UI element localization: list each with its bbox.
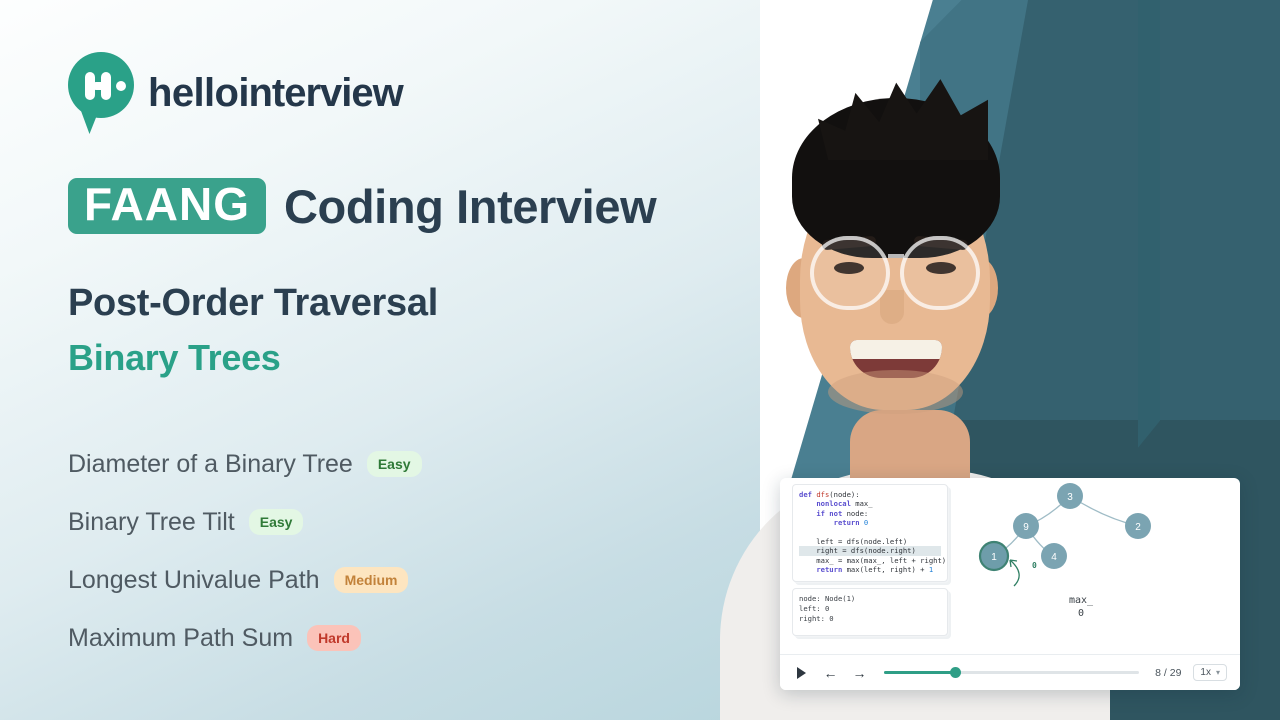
presenter-glasses-bridge	[888, 254, 904, 258]
problem-name: Longest Univalue Path	[68, 566, 320, 595]
binary-tree-diagram: 3 9 2 1 4 0	[952, 478, 1240, 654]
tree-node-label: 2	[1135, 522, 1141, 533]
list-item[interactable]: Maximum Path Sum Hard	[68, 609, 788, 667]
difficulty-badge: Medium	[334, 567, 409, 593]
progress-handle[interactable]	[950, 667, 961, 678]
faang-badge: FAANG	[68, 178, 266, 234]
topic-label: Binary Trees	[68, 337, 788, 379]
headline-text: Coding Interview	[284, 179, 656, 234]
presenter-chin-shadow	[828, 370, 963, 414]
variables-panel[interactable]: node: Node(1) left: 0 right: 0	[792, 588, 948, 636]
return-value-label: 0	[1032, 561, 1037, 570]
progress-fill	[884, 671, 955, 674]
accumulator-value: 0	[1036, 607, 1126, 620]
playback-speed-select[interactable]: 1x ▾	[1193, 664, 1227, 681]
difficulty-badge: Easy	[367, 451, 422, 477]
list-item[interactable]: Diameter of a Binary Tree Easy	[68, 435, 788, 493]
tree-node-label: 3	[1067, 492, 1073, 503]
tree-node-label: 1	[991, 552, 997, 563]
slide-canvas: hellointerview FAANG Coding Interview Po…	[0, 0, 1280, 720]
presenter-teeth	[850, 340, 942, 359]
code-block: def dfs(node): nonlocal max_ if not node…	[799, 490, 941, 575]
visualizer-body: def dfs(node): nonlocal max_ if not node…	[780, 478, 1240, 654]
tree-node-label: 9	[1023, 522, 1029, 533]
progress-slider[interactable]	[884, 671, 1139, 674]
step-forward-icon[interactable]: →	[851, 664, 868, 681]
chevron-down-icon: ▾	[1216, 668, 1220, 677]
hello-interview-speech-bubble-icon	[68, 52, 134, 134]
playback-controls: ← → 8 / 29 1x ▾	[780, 654, 1240, 690]
return-arrow	[1010, 560, 1019, 586]
accumulator-display: max_ 0	[1036, 594, 1126, 620]
algorithm-visualizer-card: def dfs(node): nonlocal max_ if not node…	[780, 478, 1240, 690]
difficulty-badge: Hard	[307, 625, 361, 651]
presenter-nose	[880, 290, 904, 324]
brand-wordmark: hellointerview	[148, 71, 403, 116]
problem-name: Diameter of a Binary Tree	[68, 450, 353, 479]
brand-wordmark-interview: interview	[238, 71, 402, 115]
headline: FAANG Coding Interview	[68, 178, 788, 234]
list-item[interactable]: Binary Tree Tilt Easy	[68, 493, 788, 551]
accumulator-label: max_	[1036, 594, 1126, 607]
page-title: Post-Order Traversal	[68, 282, 788, 325]
code-column: def dfs(node): nonlocal max_ if not node…	[780, 478, 952, 654]
difficulty-badge: Easy	[249, 509, 304, 535]
problem-list: Diameter of a Binary Tree Easy Binary Tr…	[68, 435, 788, 667]
list-item[interactable]: Longest Univalue Path Medium	[68, 551, 788, 609]
variables-block: node: Node(1) left: 0 right: 0	[799, 594, 941, 624]
slide-content: hellointerview FAANG Coding Interview Po…	[68, 52, 788, 667]
presenter-glasses-right-lens	[900, 236, 980, 310]
step-counter: 8 / 29	[1155, 667, 1181, 679]
playback-speed-value: 1x	[1200, 667, 1211, 678]
presenter-glasses-left-lens	[810, 236, 890, 310]
brand-wordmark-hello: hello	[148, 71, 238, 115]
tree-column: 3 9 2 1 4 0	[952, 478, 1240, 654]
tree-node-label: 4	[1051, 552, 1057, 563]
brand-logo[interactable]: hellointerview	[68, 52, 788, 134]
code-panel[interactable]: def dfs(node): nonlocal max_ if not node…	[792, 484, 948, 582]
tree-nodes: 3 9 2 1 4	[980, 483, 1151, 570]
problem-name: Maximum Path Sum	[68, 624, 293, 653]
problem-name: Binary Tree Tilt	[68, 508, 235, 537]
play-icon[interactable]	[793, 664, 810, 681]
step-back-icon[interactable]: ←	[822, 664, 839, 681]
